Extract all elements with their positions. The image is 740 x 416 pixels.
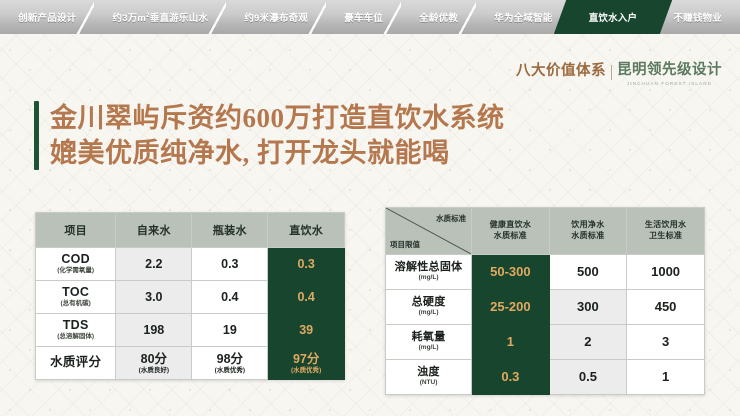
table-row: 耗氧量 (mg/L) 1 2 3 — [386, 325, 705, 360]
table-row: 水质评分 80分 (水质良好) 98分 (水质优秀) 97分 (水质优秀) — [36, 347, 345, 380]
table-row: TOC (总有机碳) 3.0 0.4 0.4 — [36, 281, 345, 314]
row-label-main: 耗氧量 — [386, 331, 471, 343]
row-label-main: 总硬度 — [386, 296, 471, 308]
table-header-row: 水质标准 项目限值 健康直饮水 水质标准 饮用净水 水质标准 生活饮用水 卫生标… — [386, 208, 705, 255]
cell-value-sub: (水质优秀) — [268, 367, 344, 375]
corner-label-standard: 水质标准 — [436, 213, 466, 224]
header-item: 项目 — [36, 213, 116, 248]
nav-tab-vertical-playground-landscape[interactable]: 约3万m2垂直游乐山水 — [94, 0, 226, 34]
cell-value: 300 — [549, 290, 627, 325]
table-row: 总硬度 (mg/L) 25-200 300 450 — [386, 290, 705, 325]
water-standards-table: 水质标准 项目限值 健康直饮水 水质标准 饮用净水 水质标准 生活饮用水 卫生标… — [385, 207, 705, 395]
cell-value-highlighted: 0.3 — [472, 360, 550, 395]
header-tap-water: 自来水 — [116, 213, 192, 248]
nav-tab-label-tail: 垂直游乐山水 — [150, 13, 208, 24]
header-bottled-water: 瓶装水 — [192, 213, 268, 248]
cell-value: 1 — [627, 360, 705, 395]
header-diagonal-corner: 水质标准 项目限值 — [386, 208, 472, 255]
table-row: 溶解性总固体 (mg/L) 50-300 500 1000 — [386, 255, 705, 290]
row-label-sub: (化学需氧量) — [36, 267, 115, 275]
row-label-sub: (总有机碳) — [36, 300, 115, 308]
nav-tab-label: 全龄优教 — [419, 10, 458, 24]
row-label-sub: (总溶解固体) — [36, 333, 115, 341]
row-label-water-quality-score: 水质评分 — [36, 347, 116, 380]
headline-block: 金川翠屿斥资约600万打造直饮水系统 媲美优质纯净水, 打开龙头就能喝 — [34, 101, 505, 170]
row-label-oxygen-consumption: 耗氧量 (mg/L) — [386, 325, 472, 360]
row-label-cod: COD (化学需氧量) — [36, 248, 116, 281]
cell-value: 0.3 — [192, 248, 268, 281]
cell-value: 2 — [549, 325, 627, 360]
corner-label-limit: 项目限值 — [390, 239, 420, 250]
headline-line-1: 金川翠屿斥资约600万打造直饮水系统 — [50, 101, 505, 136]
row-label-main: TDS — [36, 319, 115, 333]
header-direct-drinking-water: 直饮水 — [268, 213, 345, 248]
cell-value: 98分 (水质优秀) — [192, 347, 268, 380]
header-domestic-drinking-hygiene-standard: 生活饮用水 卫生标准 — [627, 208, 705, 255]
cell-value: 0.4 — [192, 281, 268, 314]
row-label-main: 溶解性总固体 — [386, 261, 471, 273]
cell-value-main: 97分 — [293, 352, 319, 366]
cell-value: 0.5 — [549, 360, 627, 395]
row-label-toc: TOC (总有机碳) — [36, 281, 116, 314]
cell-value: 1000 — [627, 255, 705, 290]
water-comparison-table: 项目 自来水 瓶装水 直饮水 COD (化学需氧量) 2.2 0.3 0.3 — [35, 212, 345, 380]
brand-divider — [611, 65, 612, 80]
nav-tab-label: 豪车车位 — [344, 10, 383, 24]
cell-value-highlighted: 25-200 — [472, 290, 550, 325]
table-row: TDS (总溶解固体) 198 19 39 — [36, 314, 345, 347]
cell-value-highlighted: 50-300 — [472, 255, 550, 290]
comparison-table: 项目 自来水 瓶装水 直饮水 COD (化学需氧量) 2.2 0.3 0.3 — [35, 212, 345, 380]
slide-canvas: 创新产品设计 约3万m2垂直游乐山水 约9米瀑布奇观 豪车车位 全龄优教 华为全… — [0, 0, 740, 416]
cell-value-highlighted: 97分 (水质优秀) — [268, 347, 345, 380]
nav-tab-label-base: 约3万m — [113, 13, 147, 24]
cell-value: 3 — [627, 325, 705, 360]
top-navigation-bar: 创新产品设计 约3万m2垂直游乐山水 约9米瀑布奇观 豪车车位 全龄优教 华为全… — [0, 0, 740, 34]
header-line-2: 卫生标准 — [627, 231, 704, 242]
nav-tab-direct-drinking-water[interactable]: 直饮水入户 — [571, 0, 656, 34]
nav-tab-luxury-car-parking[interactable]: 豪车车位 — [326, 0, 401, 34]
row-label-unit: (mg/L) — [386, 274, 471, 282]
brand-tagline-cn: 昆明领先级设计 — [617, 62, 722, 79]
row-label-total-hardness: 总硬度 (mg/L) — [386, 290, 472, 325]
row-label-main: COD — [36, 253, 115, 267]
cell-value-highlighted: 0.4 — [268, 281, 345, 314]
row-label-unit: (mg/L) — [386, 344, 471, 352]
header-line-2: 水质标准 — [472, 231, 549, 242]
header-line-1: 饮用净水 — [550, 220, 627, 231]
cell-value-highlighted: 1 — [472, 325, 550, 360]
row-label-main: 浊度 — [386, 366, 471, 378]
cell-value-highlighted: 39 — [268, 314, 345, 347]
standards-table: 水质标准 项目限值 健康直饮水 水质标准 饮用净水 水质标准 生活饮用水 卫生标… — [385, 207, 705, 395]
brand-lockup: 八大价值体系 昆明领先级设计 JINCHUAN FOREST ISLAND — [516, 62, 722, 86]
row-label-tds: TDS (总溶解固体) — [36, 314, 116, 347]
nav-tab-non-profit-property[interactable]: 不赚钱物业 — [655, 0, 740, 34]
row-label-dissolved-solids: 溶解性总固体 (mg/L) — [386, 255, 472, 290]
nav-tab-all-age-education[interactable]: 全龄优教 — [401, 0, 476, 34]
nav-tab-label: 华为全域智能 — [494, 10, 552, 24]
header-line-1: 生活饮用水 — [627, 220, 704, 231]
nav-tab-label: 不赚钱物业 — [673, 10, 722, 24]
cell-value: 450 — [627, 290, 705, 325]
row-label-main: TOC — [36, 286, 115, 300]
cell-value-main: 80分 — [141, 352, 167, 366]
brand-tagline: 昆明领先级设计 JINCHUAN FOREST ISLAND — [617, 62, 722, 86]
header-healthy-direct-drinking-standard: 健康直饮水 水质标准 — [472, 208, 550, 255]
row-label-turbidity: 浊度 (NTU) — [386, 360, 472, 395]
row-label-unit: (mg/L) — [386, 309, 471, 317]
nav-tab-label: 创新产品设计 — [18, 10, 76, 24]
row-label-unit: (NTU) — [386, 379, 471, 387]
table-header-row: 项目 自来水 瓶装水 直饮水 — [36, 213, 345, 248]
table-row: 浊度 (NTU) 0.3 0.5 1 — [386, 360, 705, 395]
cell-value-sub: (水质良好) — [116, 367, 191, 375]
header-line-1: 健康直饮水 — [472, 220, 549, 231]
brand-tagline-en: JINCHUAN FOREST ISLAND — [627, 81, 712, 86]
headline-text: 金川翠屿斥资约600万打造直饮水系统 媲美优质纯净水, 打开龙头就能喝 — [50, 101, 505, 170]
cell-value-sub: (水质优秀) — [192, 367, 267, 375]
cell-value: 500 — [549, 255, 627, 290]
brand-value-system-text: 八大价值体系 — [516, 62, 606, 79]
header-purified-drinking-standard: 饮用净水 水质标准 — [549, 208, 627, 255]
nav-tab-label: 约3万m2垂直游乐山水 — [113, 10, 209, 24]
cell-value: 3.0 — [116, 281, 192, 314]
nav-tab-label: 约9米瀑布奇观 — [244, 10, 308, 24]
nav-tab-label: 直饮水入户 — [589, 10, 638, 24]
table-row: COD (化学需氧量) 2.2 0.3 0.3 — [36, 248, 345, 281]
header-line-2: 水质标准 — [550, 231, 627, 242]
cell-value: 198 — [116, 314, 192, 347]
headline-line-2: 媲美优质纯净水, 打开龙头就能喝 — [50, 136, 505, 171]
row-label-main: 水质评分 — [36, 356, 115, 370]
cell-value-main: 98分 — [217, 352, 243, 366]
cell-value: 19 — [192, 314, 268, 347]
cell-value: 80分 (水质良好) — [116, 347, 192, 380]
cell-value: 2.2 — [116, 248, 192, 281]
nav-tab-innovative-product-design[interactable]: 创新产品设计 — [0, 0, 94, 34]
cell-value-highlighted: 0.3 — [268, 248, 345, 281]
nav-tab-waterfall-spectacle[interactable]: 约9米瀑布奇观 — [226, 0, 326, 34]
headline-accent-bar — [34, 101, 39, 170]
